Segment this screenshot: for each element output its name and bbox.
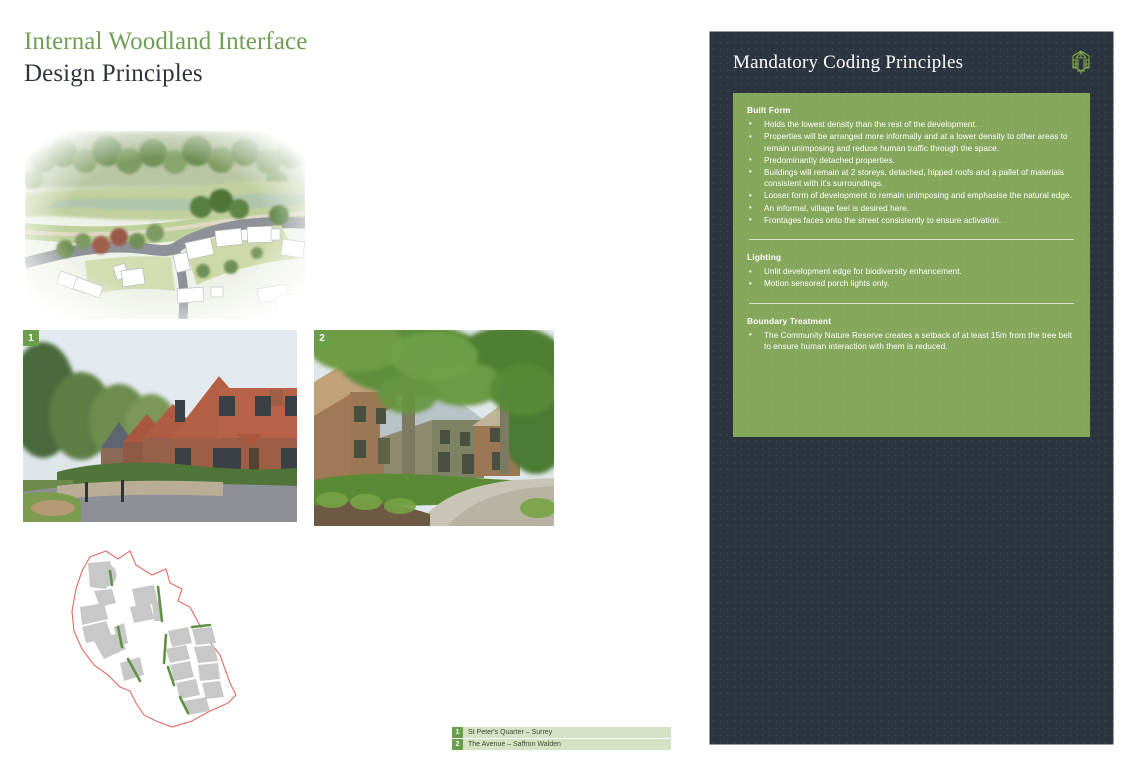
photo-badge-2: 2	[314, 330, 330, 346]
photo-the-avenue: 2	[314, 330, 554, 526]
list-item: Unlit development edge for biodiversity …	[747, 266, 1076, 278]
site-location-key-plan	[60, 545, 265, 730]
section-built-form: Built Form Holds the lowest density than…	[747, 105, 1076, 226]
legend-badge-2: 2	[452, 739, 463, 750]
panel-header: Mandatory Coding Principles	[733, 49, 1095, 77]
list-item: Properties will be arranged more informa…	[747, 131, 1076, 154]
list-item: Motion sensored porch lights only.	[747, 278, 1076, 290]
panel-title: Mandatory Coding Principles	[733, 52, 963, 74]
photo-badge-1: 1	[23, 330, 39, 346]
section-boundary-treatment: Boundary Treatment The Community Nature …	[747, 316, 1076, 353]
section-divider-2	[749, 303, 1074, 304]
section-divider-1	[749, 239, 1074, 240]
list-item: An informal, village feel is desired her…	[747, 203, 1076, 215]
aerial-masterplan-illustration	[25, 131, 305, 319]
hexagon-buildings-logo-icon	[1067, 49, 1095, 77]
legend-badge-1: 1	[452, 727, 463, 738]
list-item: Frontages faces onto the street consiste…	[747, 215, 1076, 227]
list-item: Buildings will remain at 2 storeys, deta…	[747, 167, 1076, 190]
legend-label-1: St Peter's Quarter – Surrey	[463, 727, 671, 738]
lighting-bullet-list: Unlit development edge for biodiversity …	[747, 266, 1076, 290]
list-item: The Community Nature Reserve creates a s…	[747, 330, 1076, 353]
page-title-primary: Internal Woodland Interface	[24, 26, 307, 58]
section-heading-built-form: Built Form	[747, 105, 1076, 116]
section-heading-lighting: Lighting	[747, 252, 1076, 263]
list-item: Predominantly detached properties.	[747, 155, 1076, 167]
page-title: Internal Woodland Interface Design Princ…	[24, 26, 307, 90]
page-title-secondary: Design Principles	[24, 58, 307, 90]
legend-label-2: The Avenue – Saffron Walden	[463, 739, 671, 750]
list-item: Holds the lowest density than the rest o…	[747, 119, 1076, 131]
section-heading-boundary-treatment: Boundary Treatment	[747, 316, 1076, 327]
coding-principles-content: Built Form Holds the lowest density than…	[733, 93, 1090, 437]
legend-row-2: 2 The Avenue – Saffron Walden	[452, 739, 671, 750]
photo-st-peters-quarter: 1	[23, 330, 297, 522]
photo-legend: 1 St Peter's Quarter – Surrey 2 The Aven…	[452, 727, 671, 751]
section-lighting: Lighting Unlit development edge for biod…	[747, 252, 1076, 290]
list-item: Looser form of development to remain uni…	[747, 190, 1076, 202]
built-form-bullet-list: Holds the lowest density than the rest o…	[747, 119, 1076, 226]
mandatory-coding-principles-panel: Mandatory Coding Principles Built F	[710, 32, 1113, 744]
legend-row-1: 1 St Peter's Quarter – Surrey	[452, 727, 671, 738]
boundary-treatment-bullet-list: The Community Nature Reserve creates a s…	[747, 330, 1076, 353]
